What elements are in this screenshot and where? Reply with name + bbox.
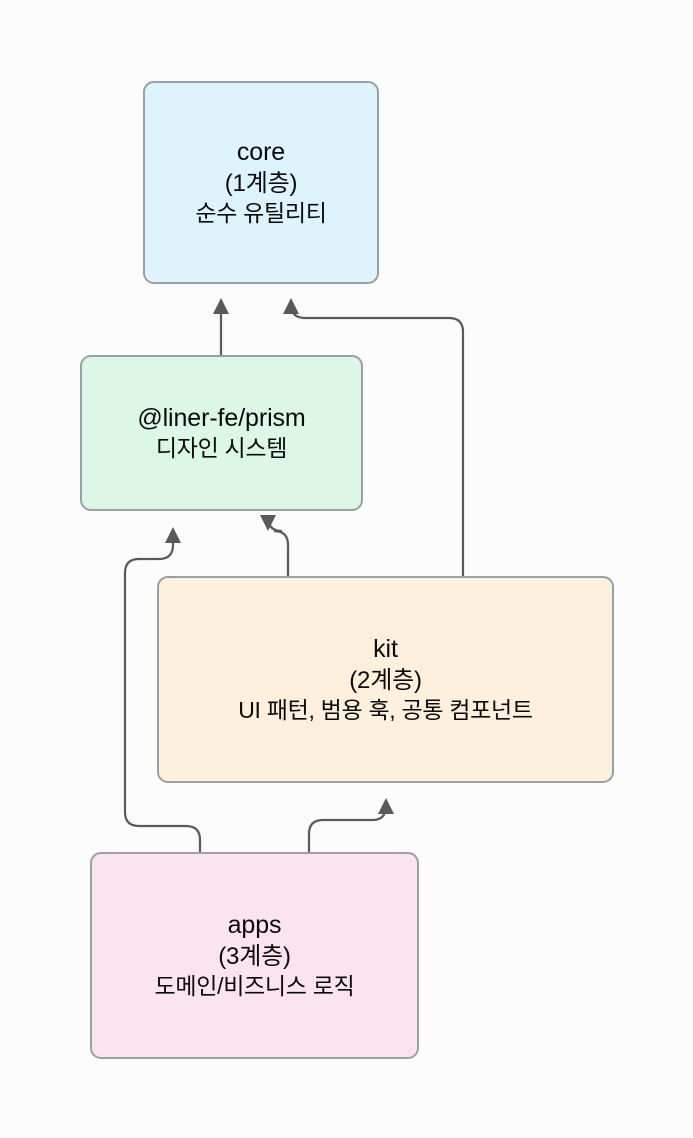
node-prism-description: 디자인 시스템 xyxy=(156,434,287,463)
node-apps-name: apps xyxy=(228,910,282,942)
node-kit-name: kit xyxy=(373,634,398,666)
diagram-canvas: core (1계층) 순수 유틸리티 @liner-fe/prism 디자인 시… xyxy=(0,0,693,1138)
edge-apps-to-kit xyxy=(309,800,386,852)
node-core[interactable]: core (1계층) 순수 유틸리티 xyxy=(143,81,379,284)
node-apps-description: 도메인/비즈니스 로직 xyxy=(155,972,355,1001)
node-core-description: 순수 유틸리티 xyxy=(195,199,326,228)
node-core-layer: (1계층) xyxy=(225,169,298,199)
node-prism[interactable]: @liner-fe/prism 디자인 시스템 xyxy=(80,355,363,511)
node-kit-layer: (2계층) xyxy=(349,666,422,696)
node-kit[interactable]: kit (2계층) UI 패턴, 범용 훅, 공통 컴포넌트 xyxy=(157,576,614,783)
node-core-name: core xyxy=(237,137,285,169)
node-apps-layer: (3계층) xyxy=(218,942,291,972)
edge-kit-to-prism xyxy=(268,517,288,576)
node-prism-name: @liner-fe/prism xyxy=(137,403,305,435)
node-kit-description: UI 패턴, 범용 훅, 공통 컴포넌트 xyxy=(238,696,533,725)
node-apps[interactable]: apps (3계층) 도메인/비즈니스 로직 xyxy=(90,852,419,1059)
